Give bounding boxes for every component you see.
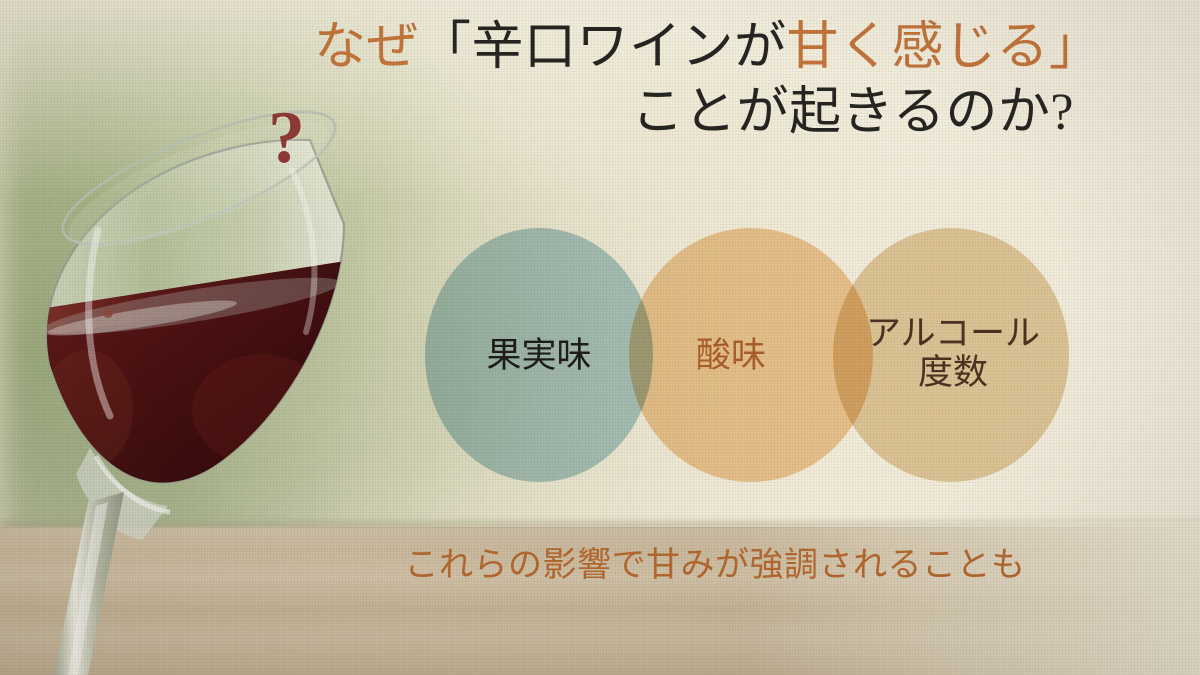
title-line-1-part-1: なぜ: [314, 19, 419, 76]
title-line-2: ことが起きるのか?: [300, 83, 1090, 142]
title-line-1: なぜ「辛口ワインが甘く感じる」: [300, 18, 1090, 77]
slide-canvas: ? なぜ「辛口ワインが甘く感じる」 ことが起きるのか? 果実味 酸味 アルコール…: [0, 0, 1200, 675]
title-line-2-part-1: ことが起きるのか?: [631, 84, 1074, 141]
page-title: なぜ「辛口ワインが甘く感じる」 ことが起きるのか?: [300, 18, 1090, 143]
caption-text: これらの影響で甘みが強調されることも: [300, 537, 1130, 586]
venn-label-acidity: 酸味: [670, 336, 792, 375]
title-line-1-part-2: 「辛口ワインが: [419, 19, 787, 76]
venn-label-alcohol-line2: 度数: [845, 353, 1061, 392]
title-line-1-part-3: 甘く感じる」: [787, 19, 1102, 76]
venn-diagram: 果実味 酸味 アルコール 度数: [415, 228, 1080, 486]
venn-label-fruitiness: 果実味: [463, 336, 615, 375]
wine-glass-photo: [0, 110, 412, 675]
venn-label-alcohol-line1: アルコール: [845, 314, 1061, 353]
venn-label-alcohol: アルコール 度数: [845, 314, 1061, 392]
